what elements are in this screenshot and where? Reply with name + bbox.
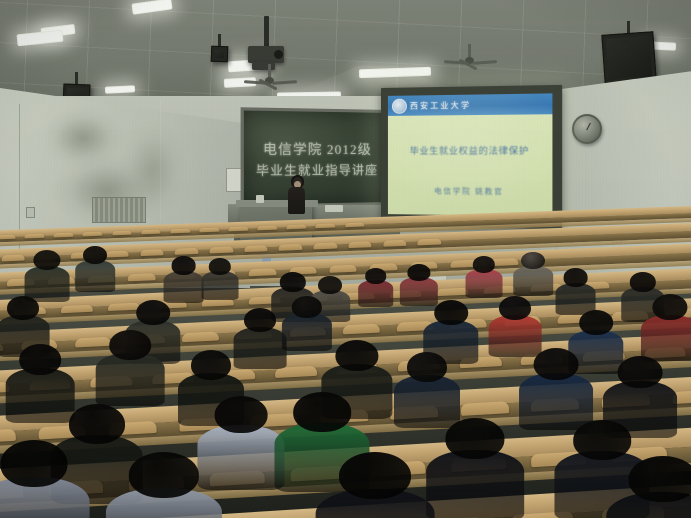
blackboard: 电信学院 2012级 毕业生就业指导讲座 (241, 107, 392, 207)
audience-torso (358, 280, 394, 307)
audience-head (69, 404, 125, 444)
slide-header: 西安工业大学 (388, 93, 553, 116)
audience-head (407, 352, 447, 382)
wall-clock-icon (572, 114, 602, 144)
seat-back (329, 265, 357, 273)
audience-member (120, 452, 208, 518)
audience-head (473, 256, 495, 273)
audience-head (244, 308, 276, 332)
audience-head (629, 456, 691, 502)
audience-head (629, 272, 655, 292)
audience-head (136, 300, 170, 325)
audience-head (0, 440, 67, 487)
audience-member (206, 258, 234, 301)
university-seal-icon (392, 98, 407, 113)
projection-screen: 西安工业大学 毕业生就业权益的法律保护 电信学院 姚教官 (381, 85, 562, 229)
audience-head (7, 296, 39, 320)
seat-back (348, 241, 372, 247)
audience-member (648, 294, 691, 362)
audience-torso (513, 266, 553, 296)
audience-member (240, 308, 280, 370)
audience-torso (202, 271, 239, 300)
wall-seam (160, 100, 161, 220)
audience-head (292, 296, 322, 318)
audience-member (14, 344, 66, 425)
seat-back (128, 274, 156, 282)
seat-back (1, 255, 25, 261)
audience-member (30, 250, 64, 303)
audience-torso (426, 450, 524, 518)
seat-back (175, 248, 199, 254)
slide-title: 毕业生就业权益的法律保护 (388, 143, 553, 157)
audience-torso (96, 353, 165, 406)
audience-head (563, 268, 588, 287)
seat-back (313, 243, 337, 249)
seat-back (140, 249, 164, 255)
audience-torso (234, 327, 287, 369)
audience-head (339, 452, 411, 499)
audience-member (470, 256, 498, 299)
audience-member (168, 256, 199, 304)
lecture-hall-photo: 电信学院 2012级 毕业生就业指导讲座 西安工业大学 毕业生就业权益的法律保护… (0, 0, 691, 518)
desk-item (325, 205, 343, 212)
audience-torso (197, 425, 284, 490)
slide-subtitle: 电信学院 姚教官 (388, 185, 553, 198)
audience-member (404, 264, 433, 307)
lectern-item (256, 195, 264, 203)
seat-back (279, 244, 303, 250)
audience-head (109, 330, 151, 360)
audience-member (288, 296, 326, 352)
seat-back (383, 240, 407, 246)
audience-head (129, 452, 199, 498)
audience-head (279, 272, 305, 292)
audience-head (318, 276, 342, 294)
audience-torso (75, 260, 115, 292)
audience-head (573, 420, 631, 460)
audience-head (652, 294, 687, 320)
university-name: 西安工业大学 (410, 99, 471, 111)
seat-back (249, 268, 277, 276)
audience-member (0, 440, 76, 518)
audience-head (534, 348, 579, 380)
audience-member (518, 252, 548, 297)
audience-head (521, 252, 545, 269)
audience-torso (282, 313, 332, 351)
audience-head (215, 396, 268, 433)
audience-member (80, 246, 110, 293)
audience-head (191, 350, 231, 380)
presenter-body (288, 187, 305, 214)
seat-back (418, 239, 442, 245)
audience-head (209, 258, 231, 275)
audience-member (208, 396, 274, 492)
audience-head (618, 356, 663, 388)
audience-member (330, 452, 420, 518)
audience-member (104, 330, 156, 408)
audience-head (33, 250, 60, 270)
audience-torso (163, 271, 204, 304)
audience-head (335, 340, 378, 371)
wall-speaker-icon (601, 31, 656, 84)
audience-head (407, 264, 430, 281)
audience-torso (641, 315, 691, 361)
audience-head (171, 256, 196, 275)
audience-member (560, 268, 591, 316)
audience-member (438, 418, 512, 518)
blackboard-line-2: 毕业生就业指导讲座 (244, 161, 389, 179)
audience-head (19, 344, 61, 375)
audience-head (293, 392, 351, 432)
audience-torso (466, 269, 503, 298)
seat-back (244, 245, 268, 251)
audience-member (620, 456, 691, 518)
slide-surface: 西安工业大学 毕业生就业权益的法律保护 电信学院 姚教官 (388, 93, 553, 216)
audience-head (83, 246, 107, 264)
blackboard-line-1: 电信学院 2012级 (244, 138, 389, 158)
wall-socket-icon (26, 207, 35, 218)
audience-head (434, 300, 468, 325)
audience-member (362, 268, 389, 308)
audience-head (365, 268, 387, 284)
audience-head (579, 310, 613, 335)
audience-head (499, 296, 531, 320)
audience-head (445, 418, 504, 459)
wall-speaker-icon (211, 46, 229, 63)
seat-back (209, 247, 233, 253)
lectern-top (236, 200, 318, 207)
